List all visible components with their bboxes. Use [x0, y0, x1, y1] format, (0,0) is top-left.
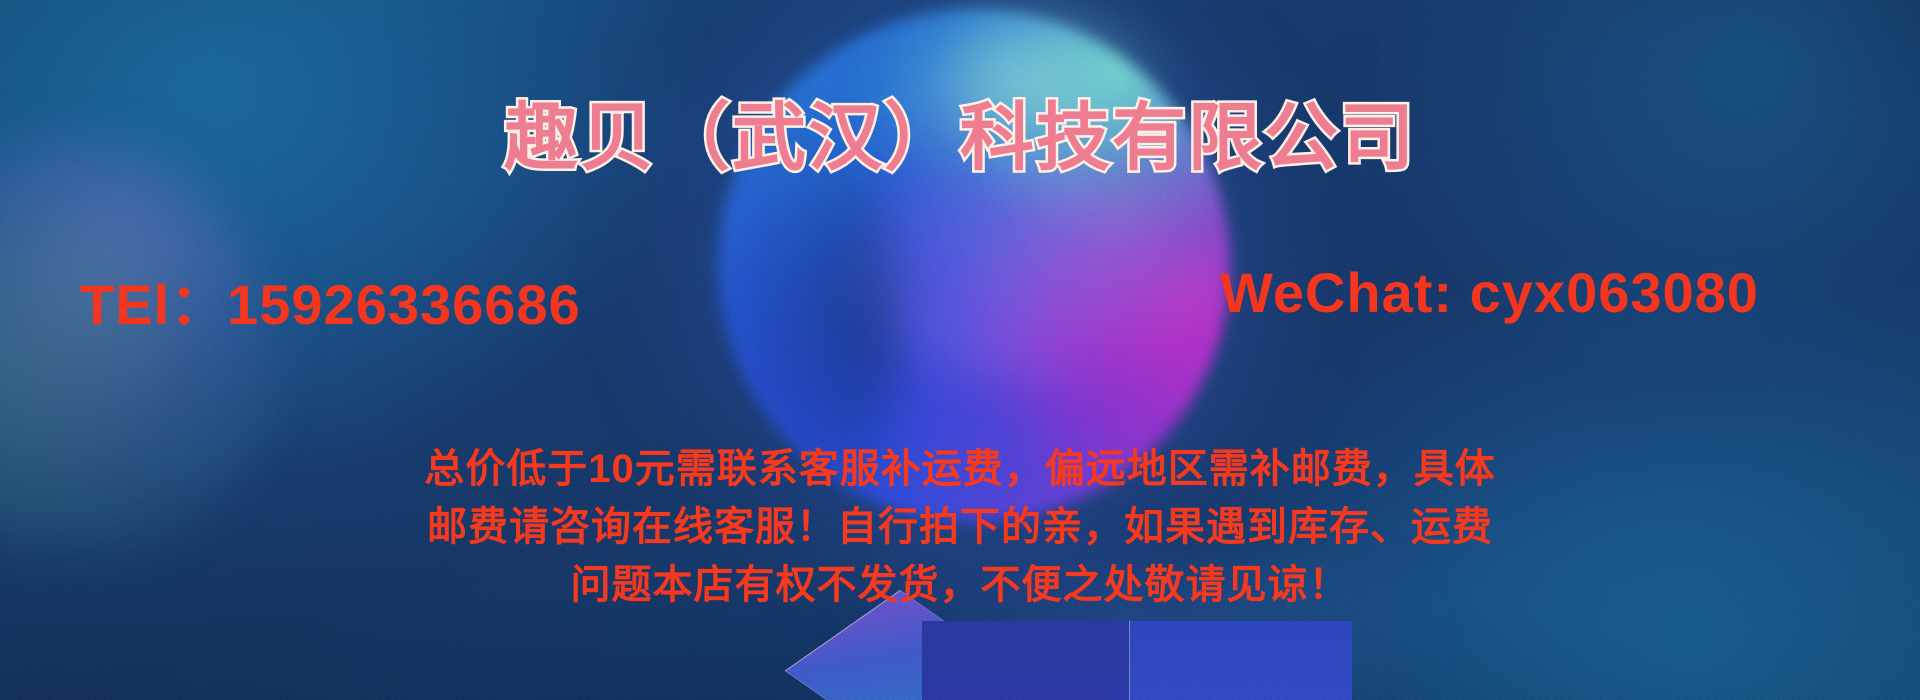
shipping-notice-line-2: 邮费请咨询在线客服！自行拍下的亲，如果遇到库存、运费	[0, 498, 1920, 556]
promo-banner: 趣贝（武汉）科技有限公司 TEl：15926336686 WeChat: cyx…	[0, 0, 1920, 700]
shipping-notice-line-3: 问题本店有权不发货，不便之处敬请见谅！	[0, 556, 1920, 614]
wechat-label[interactable]: WeChat: cyx063080	[1220, 260, 1759, 325]
page-title: 趣贝（武汉）科技有限公司	[0, 78, 1920, 185]
telephone-label[interactable]: TEl：15926336686	[80, 260, 581, 341]
text-layer: 趣贝（武汉）科技有限公司 TEl：15926336686 WeChat: cyx…	[0, 0, 1920, 700]
shipping-notice: 总价低于10元需联系客服补运费，偏远地区需补邮费，具体 邮费请咨询在线客服！自行…	[0, 440, 1920, 614]
shipping-notice-line-1: 总价低于10元需联系客服补运费，偏远地区需补邮费，具体	[0, 440, 1920, 498]
